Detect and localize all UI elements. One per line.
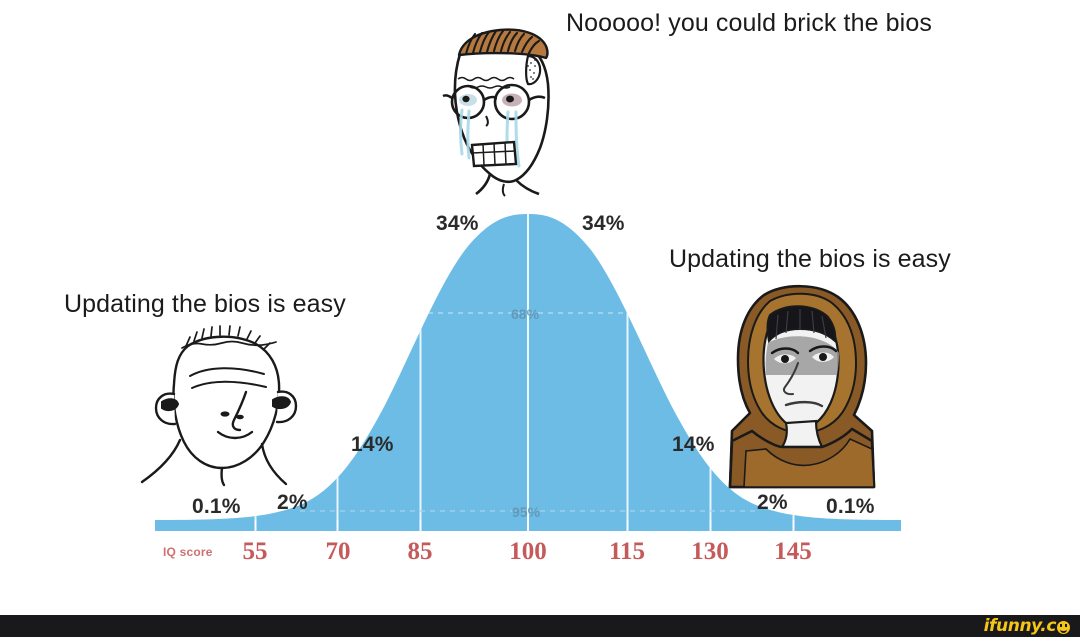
caption-right: Updating the bios is easy <box>669 243 1029 277</box>
axis-tick-55: 55 <box>243 538 268 566</box>
band-label-68: 68% <box>511 306 539 322</box>
pct-label-34-left: 34% <box>436 212 479 236</box>
axis-tick-130: 130 <box>691 538 729 566</box>
band-label-95: 95% <box>512 504 540 520</box>
axis-label-iq-score: IQ score <box>163 545 213 559</box>
axis-tick-115: 115 <box>609 538 645 566</box>
pct-label-14-left: 14% <box>351 433 394 457</box>
axis-tick-70: 70 <box>326 538 351 566</box>
hooded-doomer-wojak-icon <box>722 281 882 497</box>
smiley-face-icon <box>1057 621 1070 634</box>
meme-image: 68% 95% 0.1% 2% 14% 34% 34% 14% 2% 0.1% … <box>0 0 1080 637</box>
axis-tick-100: 100 <box>509 538 547 566</box>
ifunny-watermark: ifunny.c <box>984 616 1070 636</box>
gridline-115 <box>627 210 629 532</box>
axis-tick-145: 145 <box>774 538 812 566</box>
watermark-bar <box>0 615 1080 637</box>
gridline-100 <box>527 210 529 532</box>
pct-label-0.1-right: 0.1% <box>826 495 875 519</box>
gridline-85 <box>420 210 422 532</box>
caption-top-center: Nooooo! you could brick the bios <box>566 7 966 41</box>
caption-left: Updating the bios is easy <box>64 288 424 322</box>
axis-tick-85: 85 <box>408 538 433 566</box>
crying-soyjak-glasses-icon <box>442 8 567 198</box>
pct-label-14-right: 14% <box>672 433 715 457</box>
brainlet-wojak-icon <box>118 322 323 502</box>
gridline-70 <box>337 210 339 532</box>
watermark-label: ifunny.c <box>984 616 1056 636</box>
pct-label-34-right: 34% <box>582 212 625 236</box>
